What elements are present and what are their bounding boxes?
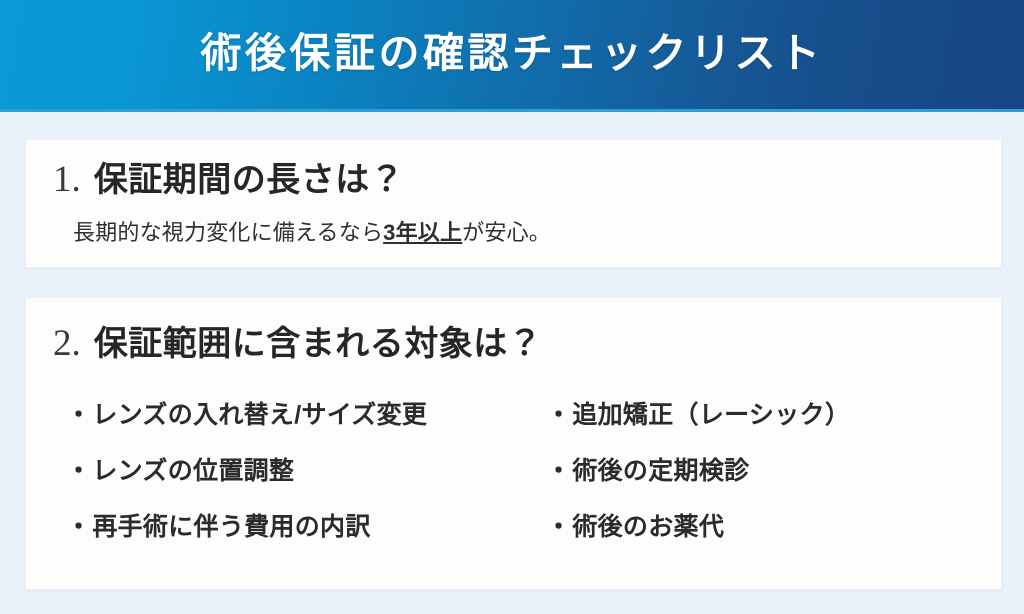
list-item-label: 再手術に伴う費用の内訳 [92,511,370,545]
page-header-banner: 術後保証の確認チェックリスト [0,0,1024,112]
list-item-label: 術後の定期検診 [572,455,749,489]
question-text-1: 保証期間の長さは？ [94,163,405,197]
list-item: ・ 術後のお薬代 [546,511,966,545]
page-title: 術後保証の確認チェックリスト [201,33,824,74]
question-number-2: 2. [53,325,81,362]
bullet-dot-icon: ・ [546,511,571,545]
list-item-label: レンズの位置調整 [92,455,294,489]
question-number-1: 1. [53,161,81,198]
bullet-dot-icon: ・ [66,511,91,545]
list-item: ・ 追加矯正（レーシック） [546,399,966,433]
checklist-card-1: 1. 保証期間の長さは？ 長期的な視力変化に備えるなら3年以上が安心。 [25,139,1002,268]
question-subtitle-1: 長期的な視力変化に備えるなら3年以上が安心。 [73,220,551,246]
question-text-2: 保証範囲に含まれる対象は？ [94,327,543,361]
bullet-dot-icon: ・ [66,455,91,489]
bullet-dot-icon: ・ [546,399,571,433]
list-item-label: 術後のお薬代 [572,511,724,545]
list-item: ・ 再手術に伴う費用の内訳 [66,511,546,545]
bullet-dot-icon: ・ [546,455,571,489]
subtitle-emphasis: 3年以上 [383,220,462,245]
list-item: ・ 術後の定期検診 [546,455,966,489]
subtitle-prefix: 長期的な視力変化に備えるなら [73,220,383,245]
checklist-page: 術後保証の確認チェックリスト 1. 保証期間の長さは？ 長期的な視力変化に備える… [0,0,1024,614]
coverage-bullet-grid: ・ レンズの入れ替え/サイズ変更 ・ 追加矯正（レーシック） ・ レンズの位置調… [66,399,966,544]
question-heading-1: 1. 保証期間の長さは？ [53,161,404,198]
checklist-card-2: 2. 保証範囲に含まれる対象は？ ・ レンズの入れ替え/サイズ変更 ・ 追加矯正… [25,297,1002,590]
list-item-label: レンズの入れ替え/サイズ変更 [92,399,427,433]
bullet-dot-icon: ・ [66,399,91,433]
list-item: ・ レンズの入れ替え/サイズ変更 [66,399,546,433]
question-heading-2: 2. 保証範囲に含まれる対象は？ [53,325,542,362]
list-item: ・ レンズの位置調整 [66,455,546,489]
subtitle-suffix: が安心。 [462,220,551,245]
list-item-label: 追加矯正（レーシック） [572,399,850,433]
